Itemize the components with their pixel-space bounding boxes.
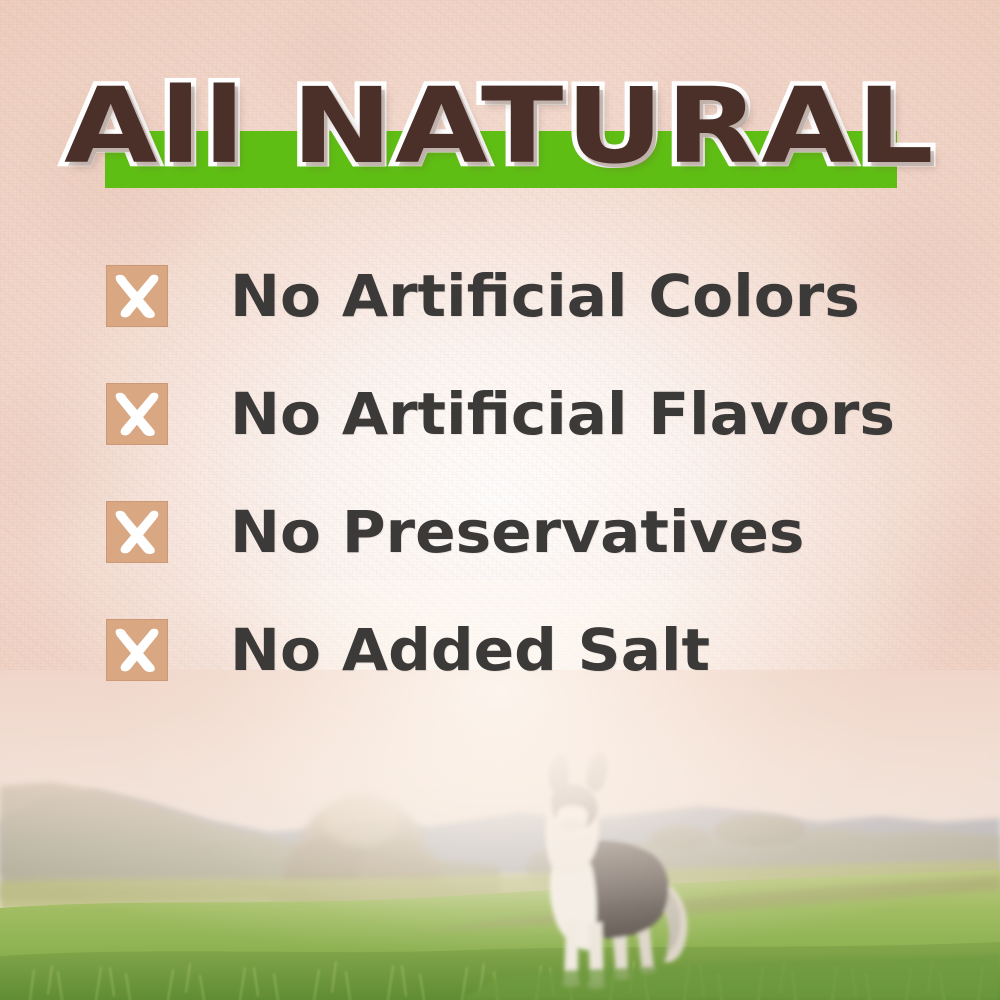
x-mark-glyph <box>106 265 168 327</box>
x-mark-icon <box>106 501 168 563</box>
x-mark-glyph <box>106 501 168 563</box>
x-mark-glyph <box>106 619 168 681</box>
claims-list: No Artificial Colors No Artificial Flavo… <box>106 265 966 737</box>
headline-banner: All NATURAL <box>0 66 1000 196</box>
list-item: No Artificial Flavors <box>106 383 966 501</box>
x-mark-icon <box>106 383 168 445</box>
page-title: All NATURAL <box>0 66 1000 186</box>
list-item: No Preservatives <box>106 501 966 619</box>
x-mark-icon <box>106 619 168 681</box>
list-item-label: No Added Salt <box>230 603 710 697</box>
list-item: No Added Salt <box>106 619 966 737</box>
list-item-label: No Preservatives <box>230 485 804 579</box>
x-mark-glyph <box>106 383 168 445</box>
x-mark-icon <box>106 265 168 327</box>
list-item: No Artificial Colors <box>106 265 966 383</box>
all-natural-poster: All NATURAL No Artificial Colors No Arti… <box>0 0 1000 1000</box>
list-item-label: No Artificial Colors <box>230 249 860 343</box>
list-item-label: No Artificial Flavors <box>230 367 895 461</box>
